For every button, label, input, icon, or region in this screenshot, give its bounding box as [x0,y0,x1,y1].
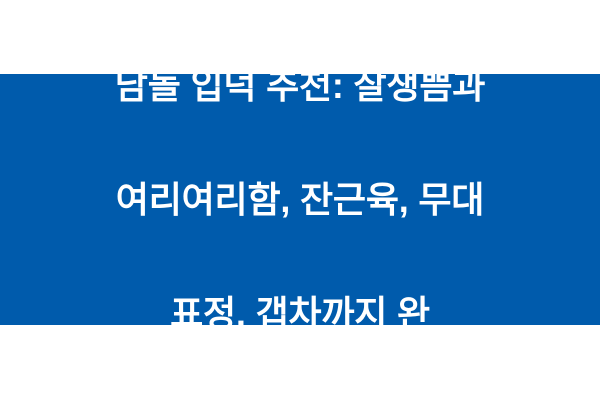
headline-text: 남돌 입덕 추천: 잘생쁨과 여리여리함, 잔근육, 무대 표정, 갭차까지 완 [8,0,592,399]
banner-card-canvas: 남돌 입덕 추천: 잘생쁨과 여리여리함, 잔근육, 무대 표정, 갭차까지 완 [0,0,600,400]
headline-line-1: 남돌 입덕 추천: 잘생쁨과 [8,57,592,114]
headline-line-3: 표정, 갭차까지 완 [8,285,592,342]
blue-banner-band: 남돌 입덕 추천: 잘생쁨과 여리여리함, 잔근육, 무대 표정, 갭차까지 완 [0,74,600,325]
headline-line-2: 여리여리함, 잔근육, 무대 [8,171,592,228]
